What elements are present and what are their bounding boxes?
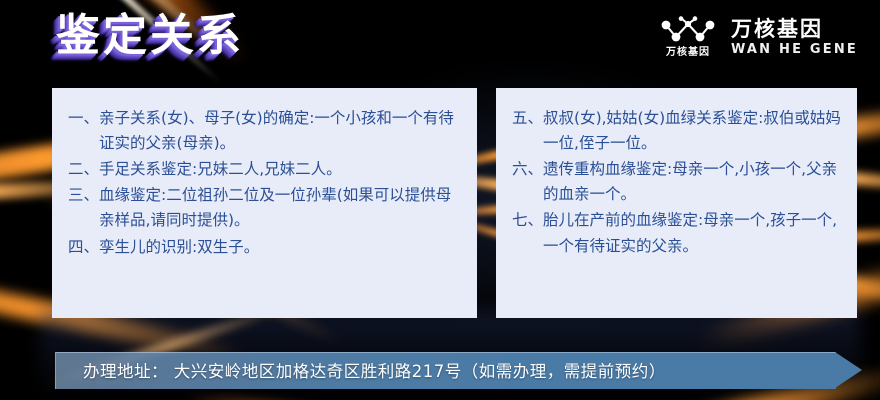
page-title: 鉴定关系 xyxy=(56,14,244,58)
panel-right: 五、 叔叔(女),姑姑(女)血绿关系鉴定:叔伯或姑妈一位,侄子一位。 六、 遗传… xyxy=(496,88,857,318)
slide-root: 鉴定关系 xyxy=(0,0,880,400)
panel-left: 一、 亲子关系(女)、母子(女)的确定:一个小孩和一个有待证实的父亲(母亲)。 … xyxy=(52,88,477,318)
logo-mark-caption: 万核基因 xyxy=(666,48,710,58)
list-item-marker: 五、 xyxy=(512,106,543,131)
relationship-list-left: 一、 亲子关系(女)、母子(女)的确定:一个小孩和一个有待证实的父亲(母亲)。 … xyxy=(68,106,463,260)
address-banner: 办理地址： 大兴安岭地区加格达奇区胜利路217号（如需办理，需提前预约） xyxy=(55,352,862,388)
list-item-marker: 四、 xyxy=(68,235,99,260)
list-item-text: 亲子关系(女)、母子(女)的确定:一个小孩和一个有待证实的父亲(母亲)。 xyxy=(99,106,463,156)
banner-text: 办理地址： 大兴安岭地区加格达奇区胜利路217号（如需办理，需提前预约） xyxy=(83,352,666,388)
list-item-marker: 二、 xyxy=(68,157,99,182)
list-item: 四、 孪生儿的识别:双生子。 xyxy=(68,235,463,260)
list-item: 六、 遗传重构血缘鉴定:母亲一个,小孩一个,父亲的血亲一个。 xyxy=(512,157,843,207)
logo-wordmark: 万核基因 WAN HE GENE xyxy=(731,19,858,56)
list-item: 一、 亲子关系(女)、母子(女)的确定:一个小孩和一个有待证实的父亲(母亲)。 xyxy=(68,106,463,156)
list-item: 三、 血缘鉴定:二位祖孙二位及一位孙辈(如果可以提供母亲样品,请同时提供)。 xyxy=(68,183,463,233)
relationship-list-right: 五、 叔叔(女),姑姑(女)血绿关系鉴定:叔伯或姑妈一位,侄子一位。 六、 遗传… xyxy=(512,106,843,259)
list-item-text: 手足关系鉴定:兄妹二人,兄妹二人。 xyxy=(99,157,463,182)
list-item-text: 叔叔(女),姑姑(女)血绿关系鉴定:叔伯或姑妈一位,侄子一位。 xyxy=(543,106,843,156)
list-item: 二、 手足关系鉴定:兄妹二人,兄妹二人。 xyxy=(68,157,463,182)
brand-logo: 万核基因 万核基因 WAN HE GENE xyxy=(659,16,858,58)
list-item-marker: 六、 xyxy=(512,157,543,182)
list-item-text: 血缘鉴定:二位祖孙二位及一位孙辈(如果可以提供母亲样品,请同时提供)。 xyxy=(99,183,463,233)
list-item: 五、 叔叔(女),姑姑(女)血绿关系鉴定:叔伯或姑妈一位,侄子一位。 xyxy=(512,106,843,156)
logo-name-en: WAN HE GENE xyxy=(731,43,858,56)
list-item-text: 遗传重构血缘鉴定:母亲一个,小孩一个,父亲的血亲一个。 xyxy=(543,157,843,207)
list-item-text: 孪生儿的识别:双生子。 xyxy=(99,235,463,260)
list-item: 七、 胎儿在产前的血缘鉴定:母亲一个,孩子一个,一个有待证实的父亲。 xyxy=(512,208,843,258)
list-item-marker: 七、 xyxy=(512,208,543,233)
list-item-marker: 三、 xyxy=(68,183,99,208)
list-item-text: 胎儿在产前的血缘鉴定:母亲一个,孩子一个,一个有待证实的父亲。 xyxy=(543,208,843,258)
list-item-marker: 一、 xyxy=(68,106,99,131)
logo-mark: 万核基因 xyxy=(659,16,717,58)
logo-name-cn: 万核基因 xyxy=(731,19,823,40)
banner-arrow-icon xyxy=(835,352,862,388)
molecule-logo-icon xyxy=(659,16,717,46)
header: 鉴定关系 xyxy=(0,0,880,88)
content-panels: 一、 亲子关系(女)、母子(女)的确定:一个小孩和一个有待证实的父亲(母亲)。 … xyxy=(0,88,880,318)
